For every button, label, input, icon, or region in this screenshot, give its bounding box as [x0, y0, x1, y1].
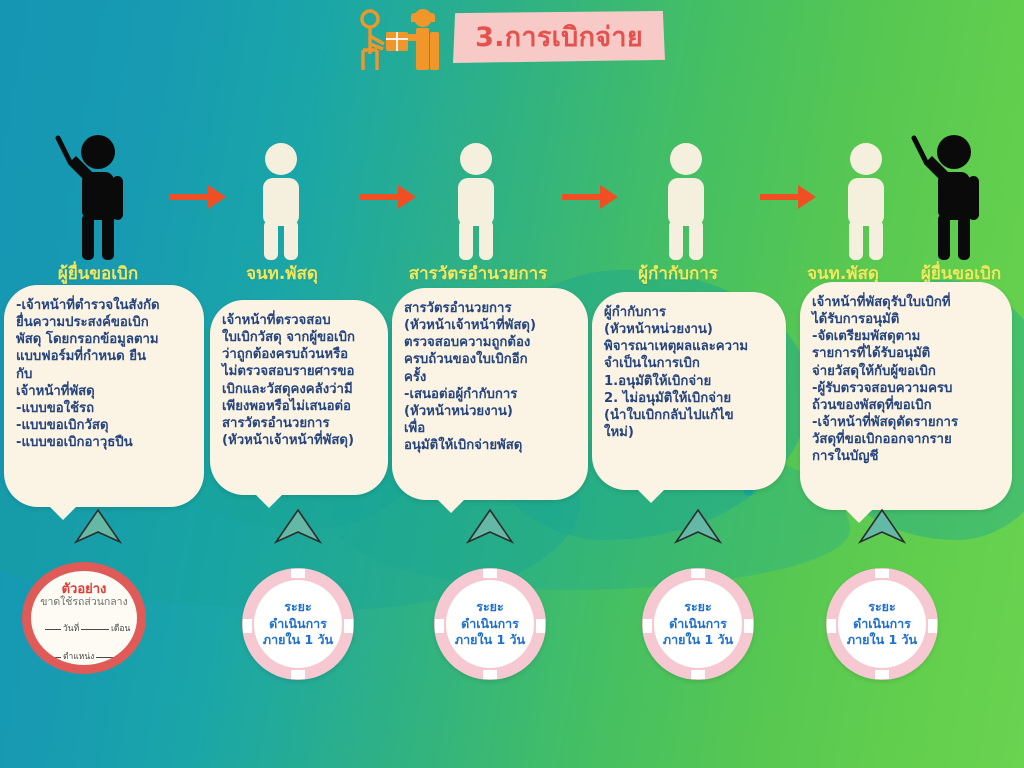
infographic-canvas: 3.การเบิกจ่าย	[0, 0, 1024, 768]
stamp-position-label: ตำแหน่ง	[61, 649, 96, 663]
duration-circle-2: ระยะ ดำเนินการ ภายใน 1 วัน	[434, 568, 546, 680]
step-card-1: -เจ้าหน้าที่ตำรวจในสังกัด ยื่นความประสงค…	[4, 285, 204, 507]
sample-stamp: ตัวอย่าง ขาดใช้รถส่วนกลาง วันที่ เดือน ต…	[22, 562, 146, 674]
right-arrow-icon	[760, 182, 818, 216]
person-raising-hand-icon	[44, 130, 148, 260]
duration-circle-4: ระยะ ดำเนินการ ภายใน 1 วัน	[826, 568, 938, 680]
circle-inner: ระยะ ดำเนินการ ภายใน 1 วัน	[446, 580, 534, 668]
page-header: 3.การเบิกจ่าย	[350, 2, 680, 78]
person-standing-icon	[248, 140, 314, 260]
duration-circle-1: ระยะ ดำเนินการ ภายใน 1 วัน	[242, 568, 354, 680]
person-standing-icon	[833, 140, 899, 260]
circle-notch	[691, 670, 705, 679]
chevron-up-icon	[74, 508, 122, 548]
role-label-3: สารวัตรอำนวยการ	[388, 260, 568, 287]
role-label-2: จนท.พัสดุ	[212, 260, 352, 287]
person-handing-box-icon	[350, 6, 446, 72]
right-arrow-icon	[360, 182, 418, 216]
circle-notch	[928, 619, 937, 633]
circle-inner: ระยะ ดำเนินการ ภายใน 1 วัน	[254, 580, 342, 668]
step-card-4: ผู้กำกับการ (หัวหน้าหน่วยงาน) พิจารณาเหต…	[592, 292, 786, 490]
circle-notch	[691, 569, 705, 578]
duration-circle-3: ระยะ ดำเนินการ ภายใน 1 วัน	[642, 568, 754, 680]
stamp-month-label: เดือน	[109, 621, 132, 635]
page-title: 3.การเบิกจ่าย	[475, 24, 643, 51]
circle-notch	[875, 569, 889, 578]
stamp-inner: ตัวอย่าง ขาดใช้รถส่วนกลาง วันที่ เดือน ต…	[31, 571, 137, 665]
person-standing-icon	[443, 140, 509, 260]
chevron-up-icon	[674, 508, 722, 548]
chevron-up-icon	[274, 508, 322, 548]
duration-text: ระยะ ดำเนินการ ภายใน 1 วัน	[663, 599, 733, 650]
circle-notch	[243, 619, 252, 633]
right-arrow-icon	[170, 182, 228, 216]
circle-inner: ระยะ ดำเนินการ ภายใน 1 วัน	[838, 580, 926, 668]
role-label-4: ผู้กำกับการ	[608, 260, 748, 287]
chevron-up-icon	[466, 508, 514, 548]
stamp-subtitle: ขาดใช้รถส่วนกลาง	[31, 593, 137, 610]
circle-notch	[875, 670, 889, 679]
circle-notch	[536, 619, 545, 633]
duration-text: ระยะ ดำเนินการ ภายใน 1 วัน	[455, 599, 525, 650]
duration-text: ระยะ ดำเนินการ ภายใน 1 วัน	[847, 599, 917, 650]
role-label-1: ผู้ยื่นขอเบิก	[28, 260, 168, 287]
title-banner: 3.การเบิกจ่าย	[453, 11, 665, 63]
circle-notch	[483, 569, 497, 578]
circle-notch	[744, 619, 753, 633]
step-card-3: สารวัตรอำนวยการ (หัวหน้าเจ้าหน้าที่พัสดุ…	[392, 288, 588, 500]
circle-inner: ระยะ ดำเนินการ ภายใน 1 วัน	[654, 580, 742, 668]
person-standing-icon	[653, 140, 719, 260]
circle-notch	[291, 670, 305, 679]
circle-notch	[291, 569, 305, 578]
step-card-5: เจ้าหน้าที่พัสดุรับใบเบิกที่ ได้รับการอน…	[800, 282, 1012, 510]
circle-notch	[344, 619, 353, 633]
circle-notch	[483, 670, 497, 679]
stamp-date-label: วันที่	[61, 621, 81, 635]
chevron-up-icon	[858, 508, 906, 548]
person-raising-hand-icon	[900, 130, 1004, 260]
step-card-2: เจ้าหน้าที่ตรวจสอบ ใบเบิกวัสดุ จากผู้ขอเ…	[210, 300, 388, 495]
circle-notch	[643, 619, 652, 633]
right-arrow-icon	[562, 182, 620, 216]
circle-notch	[435, 619, 444, 633]
duration-text: ระยะ ดำเนินการ ภายใน 1 วัน	[263, 599, 333, 650]
circle-notch	[827, 619, 836, 633]
